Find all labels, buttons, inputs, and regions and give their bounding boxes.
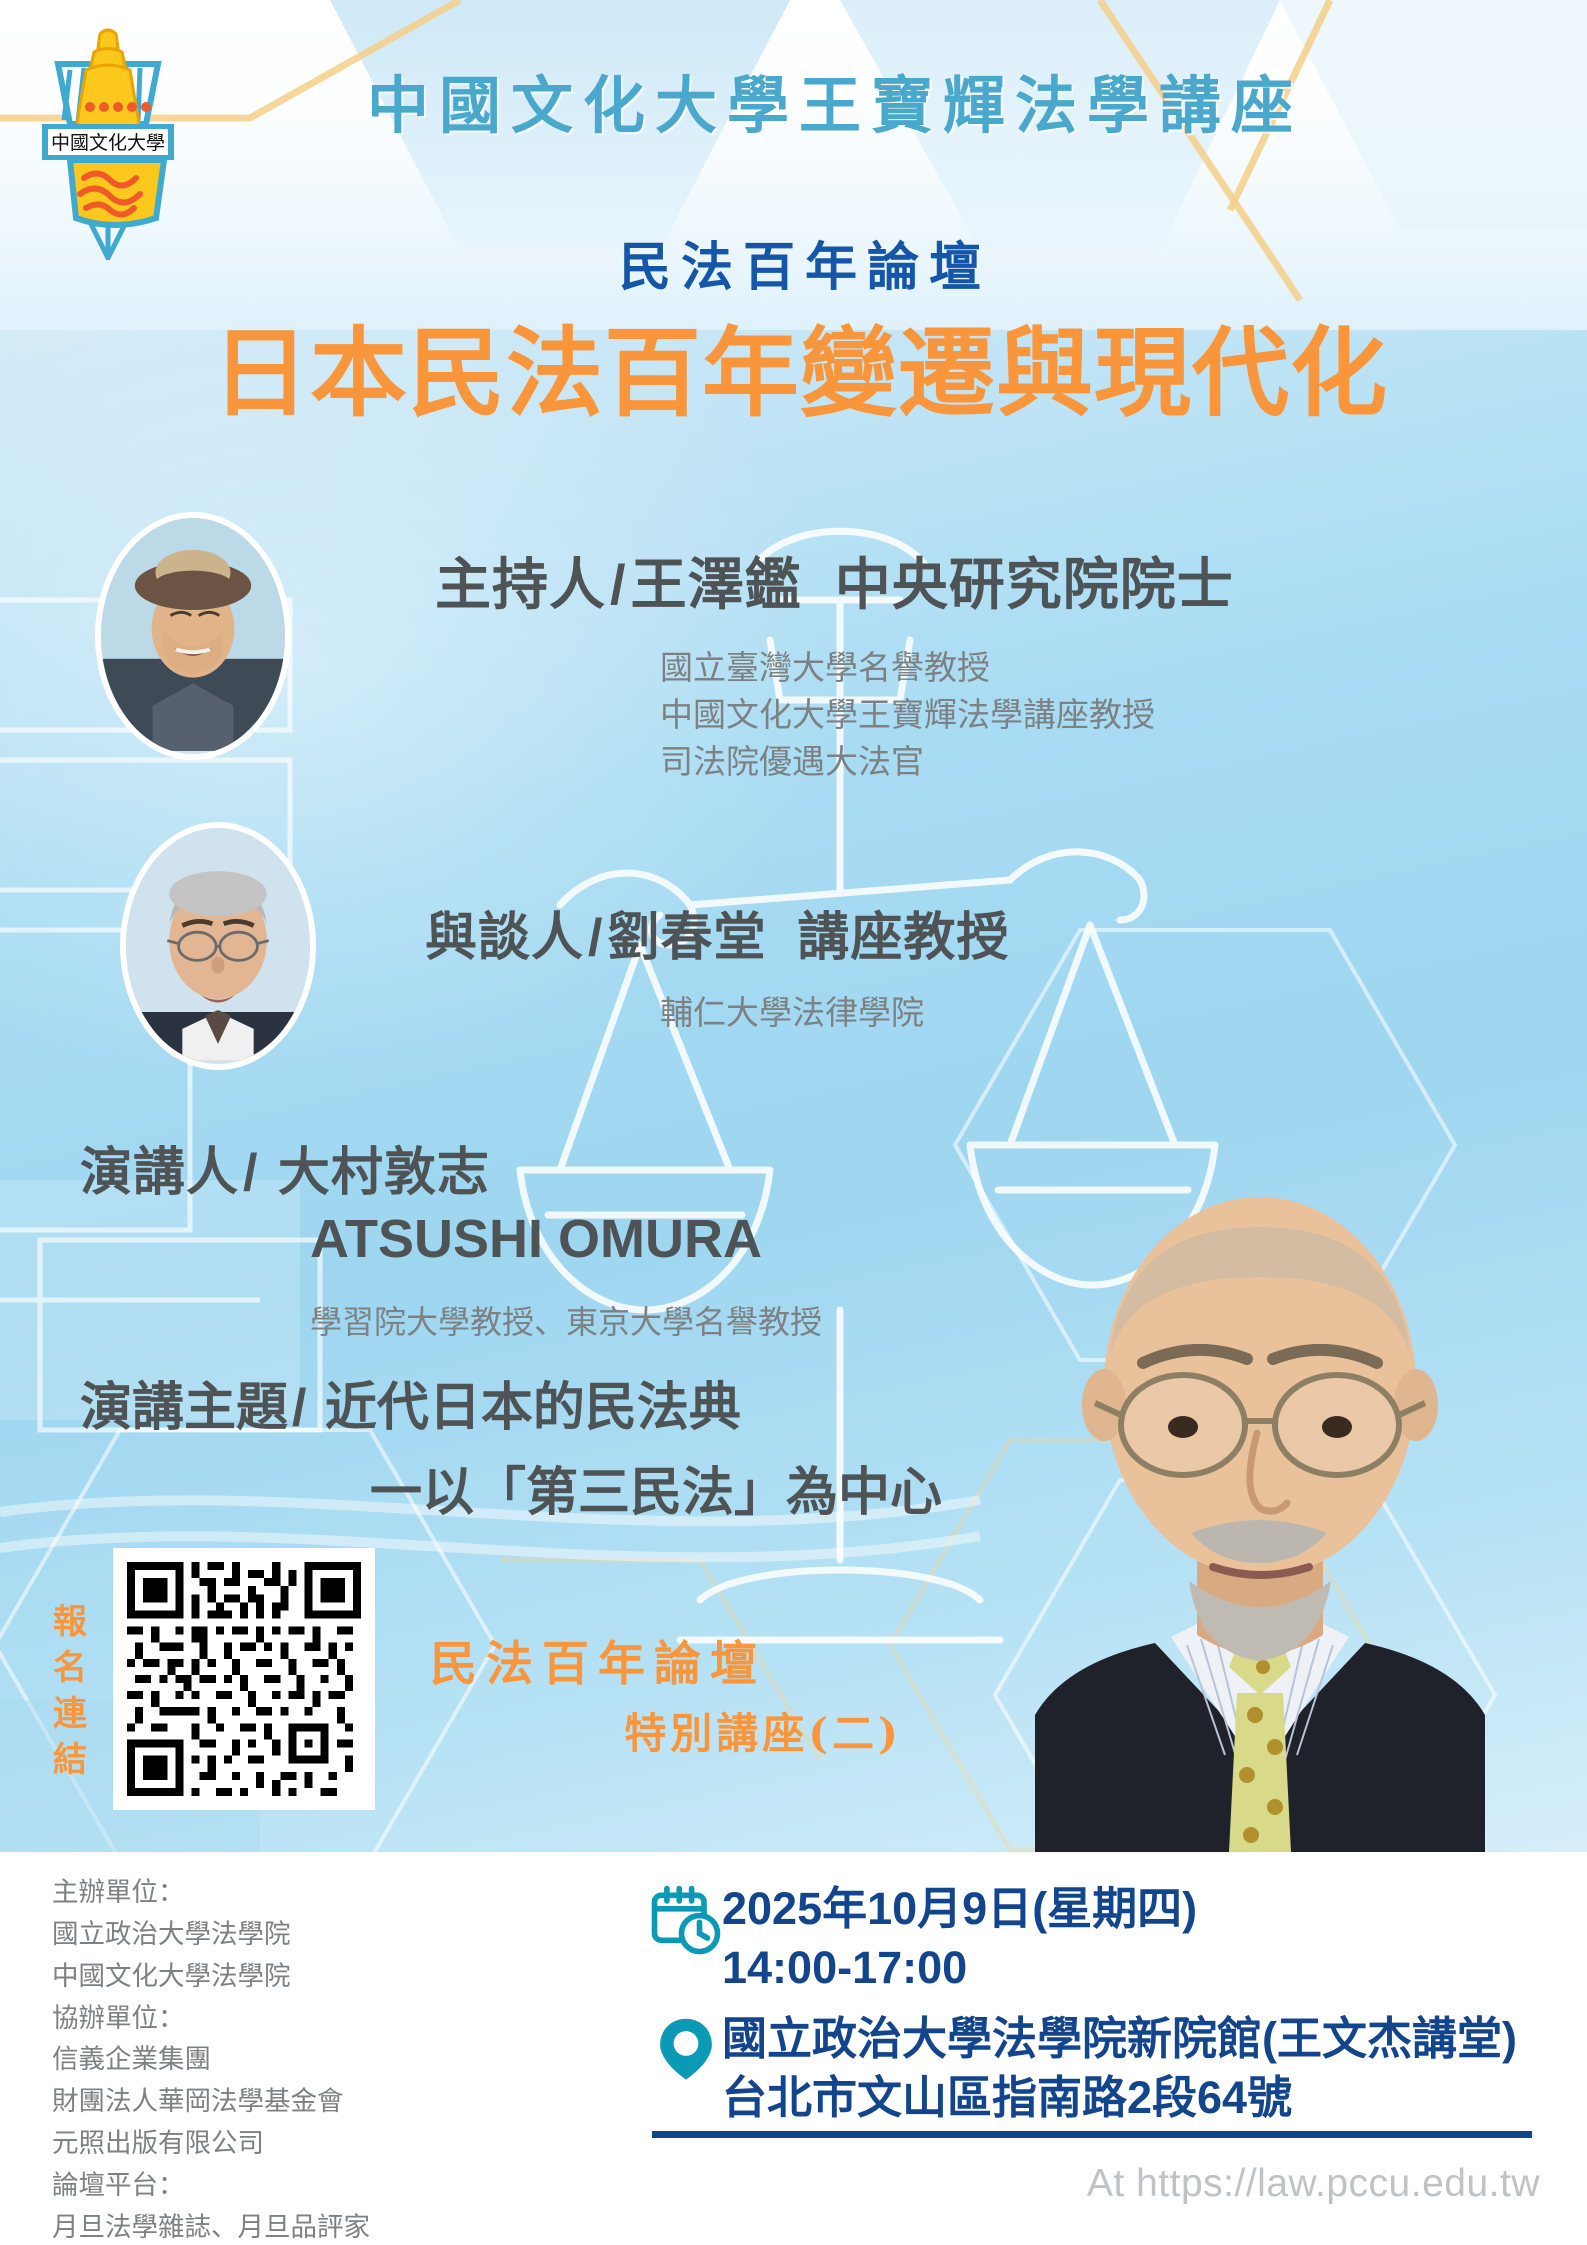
host-portrait: [101, 518, 285, 751]
location-text: 國立政治大學法學院新院館(王文杰講堂) 台北市文山區指南路2段64號: [722, 2010, 1517, 2127]
host-title: 中央研究院院士: [835, 553, 1234, 616]
topic-label: 演講主題: [80, 1379, 288, 1437]
organizer-line-3: 協辦單位：: [52, 1998, 370, 2040]
host-credential-0: 國立臺灣大學名譽教授: [660, 645, 1155, 692]
host-heading: 主持人/王澤鑑 中央研究院院士: [435, 540, 1234, 621]
organizer-line-2: 中國文化大學法學院: [52, 1956, 370, 1998]
map-pin-icon: [650, 2010, 722, 2089]
organizer-line-0: 主辦單位：: [52, 1872, 370, 1914]
discussant-role: 與談人: [425, 909, 584, 967]
host-credential-2: 司法院優遇大法官: [660, 739, 1155, 786]
topic-heading: 演講主題/ 近代日本的民法典: [80, 1365, 741, 1440]
forum-badge-line-1: 民法百年論壇: [430, 1625, 910, 1694]
datetime-text: 2025年10月9日(星期四) 14:00-17:00: [722, 1880, 1197, 1997]
slash-divider: /: [239, 1144, 262, 1202]
event-venue: 國立政治大學法學院新院館(王文杰講堂): [722, 2010, 1517, 2069]
discussant-credential-0: 輔仁大學法律學院: [660, 990, 924, 1037]
organizer-line-7: 論壇平台：: [52, 2165, 370, 2207]
omura-portrait: [975, 1115, 1545, 1852]
discussant-credentials: 輔仁大學法律學院: [660, 990, 924, 1037]
poster-root: 中國文化大學 中國文化大學王寶輝法學講座 民法百年論壇 日本民法百年變遷與現代化: [0, 0, 1587, 2245]
event-time: 14:00-17:00: [722, 1939, 1197, 1998]
organizer-line-4: 信義企業集團: [52, 2039, 370, 2081]
host-role: 主持人: [435, 553, 606, 616]
registration-qr-code[interactable]: [113, 1548, 375, 1810]
avatar-discussant: [120, 822, 316, 1070]
map-pin-icon-svg: [650, 2012, 722, 2084]
series-title: 中國文化大學王寶輝法學講座: [270, 55, 1400, 145]
registration-label-char-0: 報: [48, 1600, 92, 1646]
calendar-clock-icon-svg: [650, 1884, 722, 1956]
speaker-photo: [975, 1115, 1545, 1852]
organizer-line-1: 國立政治大學法學院: [52, 1914, 370, 1956]
slash-divider: /: [606, 553, 631, 616]
speaker-credentials: 學習院大學教授、東京大學名譽教授: [310, 1300, 822, 1345]
host-credential-1: 中國文化大學王寶輝法學講座教授: [660, 692, 1155, 739]
datetime-block: 2025年10月9日(星期四) 14:00-17:00: [650, 1880, 1197, 1997]
forum-badge-line-2: 特別講座(二): [430, 1700, 910, 1761]
location-block: 國立政治大學法學院新院館(王文杰講堂) 台北市文山區指南路2段64號: [650, 2010, 1517, 2127]
registration-label-char-1: 名: [48, 1646, 92, 1692]
topic-line-1: 近代日本的民法典: [325, 1379, 741, 1437]
speaker-name: 大村敦志: [278, 1144, 490, 1202]
organizer-line-8: 月旦法學雜誌、月旦品評家: [52, 2207, 370, 2245]
event-date: 2025年10月9日(星期四): [722, 1880, 1197, 1939]
event-address: 台北市文山區指南路2段64號: [722, 2069, 1517, 2128]
logo-nameplate-text: 中國文化大學: [51, 132, 165, 154]
pccu-logo: 中國文化大學: [28, 12, 188, 260]
registration-label: 報 名 連 結: [48, 1600, 92, 1784]
calendar-clock-icon: [650, 1880, 722, 1961]
speaker-credential-0: 學習院大學教授、東京大學名譽教授: [310, 1300, 822, 1345]
bell-logo-icon: 中國文化大學: [28, 12, 188, 260]
topic-line-2: 一以「第三民法」為中心: [370, 1450, 942, 1525]
footer-divider: [652, 2131, 1532, 2138]
slash-divider: /: [584, 909, 607, 967]
discussant-portrait: [126, 828, 310, 1061]
forum-badge: 民法百年論壇 特別講座(二): [430, 1625, 910, 1761]
host-name: 王澤鑑: [631, 553, 802, 616]
site-url: At https://law.pccu.edu.tw: [650, 2162, 1540, 2206]
speaker-role: 演講人: [80, 1144, 239, 1202]
speaker-name-en: ATSUSHI OMURA: [310, 1208, 762, 1270]
organizer-list: 主辦單位： 國立政治大學法學院 中國文化大學法學院 協辦單位： 信義企業集團 財…: [52, 1872, 370, 2245]
registration-label-char-3: 結: [48, 1738, 92, 1784]
discussant-title: 講座教授: [797, 909, 1009, 967]
page-title: 日本民法百年變遷與現代化: [60, 320, 1540, 429]
organizer-line-5: 財團法人華岡法學基金會: [52, 2081, 370, 2123]
avatar-host: [95, 512, 291, 760]
speaker-heading: 演講人/ 大村敦志: [80, 1130, 490, 1205]
slash-divider: /: [288, 1379, 310, 1437]
organizer-line-6: 元照出版有限公司: [52, 2123, 370, 2165]
discussant-name: 劉春堂: [607, 909, 766, 967]
host-credentials: 國立臺灣大學名譽教授 中國文化大學王寶輝法學講座教授 司法院優遇大法官: [660, 645, 1155, 786]
discussant-heading: 與談人/劉春堂 講座教授: [425, 895, 1009, 970]
registration-label-char-2: 連: [48, 1692, 92, 1738]
forum-name: 民法百年論壇: [270, 225, 1340, 300]
qr-code-icon[interactable]: [127, 1562, 361, 1796]
